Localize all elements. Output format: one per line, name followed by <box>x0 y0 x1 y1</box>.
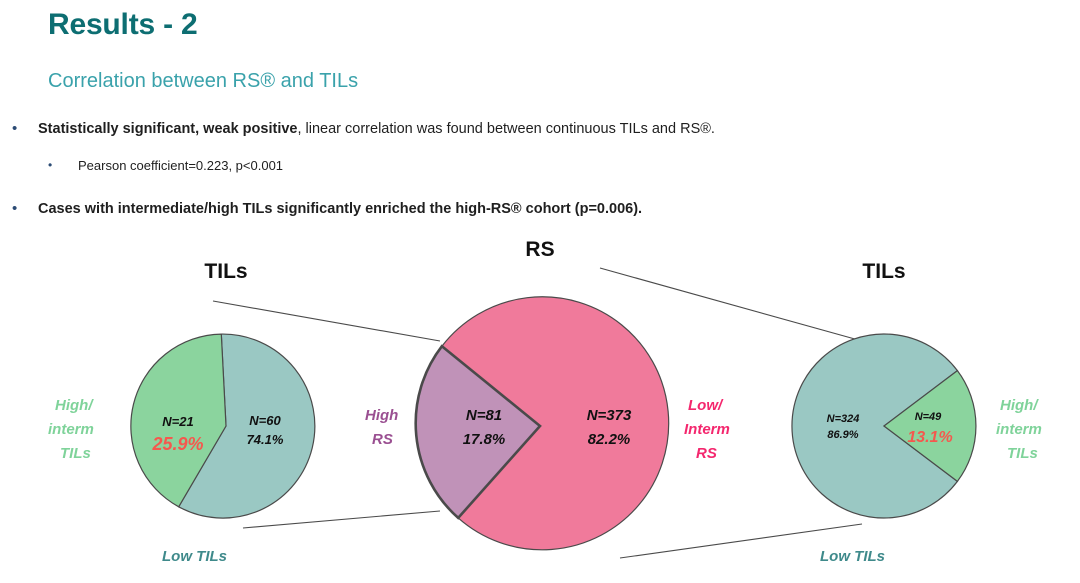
bullet-item-1a: • Pearson coefficient=0.223, p<0.001 <box>48 158 283 174</box>
center-outer-label-low-rs-3: RS <box>696 445 717 462</box>
bullet-marker-icon: • <box>12 120 38 136</box>
left-pie-teal-pct: 74.1% <box>247 432 284 447</box>
bullet-text-1: Statistically significant, weak positive… <box>38 120 715 138</box>
left-pie-teal-n: N=60 <box>249 413 281 428</box>
center-outer-label-low-rs-1: Low/ <box>688 397 724 414</box>
center-pie-purple-n: N=81 <box>466 407 502 424</box>
right-pie-title: TILs <box>862 260 905 283</box>
right-pie-green-pct: 13.1% <box>907 429 952 446</box>
right-pie-teal-pct: 86.9% <box>827 429 858 441</box>
center-pie-pink-pct: 82.2% <box>588 431 631 448</box>
left-outer-label-high-3: TILs <box>60 445 91 462</box>
center-outer-label-high-rs-2: RS <box>372 431 393 448</box>
bullet-text-1a: Pearson coefficient=0.223, p<0.001 <box>78 158 283 174</box>
right-pie-green-n: N=49 <box>915 411 942 423</box>
left-outer-label-high-1: High/ <box>55 397 94 414</box>
bullet-item-1: • Statistically significant, weak positi… <box>12 120 715 138</box>
right-pie-teal-n: N=324 <box>827 413 860 425</box>
left-outer-label-low-tils: Low TILs <box>162 548 227 565</box>
left-pie-green-pct: 25.9% <box>151 434 203 454</box>
left-pie-green-n: N=21 <box>162 414 193 429</box>
pie-chart-figure: TILs N=21 25.9% N=60 74.1% High/ interm … <box>0 228 1080 583</box>
bullet-text-2: Cases with intermediate/high TILs signif… <box>38 200 642 218</box>
left-tils-pie: TILs N=21 25.9% N=60 74.1% High/ interm … <box>48 260 315 565</box>
center-rs-pie: RS N=81 17.8% N=373 82.2% High RS Low/ I… <box>365 238 730 550</box>
right-tils-pie: TILs N=324 86.9% N=49 13.1% High/ interm… <box>792 260 1042 565</box>
bullet-marker-icon: • <box>48 158 78 171</box>
bullet-item-2: • Cases with intermediate/high TILs sign… <box>12 200 642 218</box>
center-outer-label-high-rs-1: High <box>365 407 398 424</box>
page-title: Results - 2 <box>48 8 198 42</box>
bullet-text-1-bold: Statistically significant, weak positive <box>38 121 297 137</box>
right-outer-label-low-tils: Low TILs <box>820 548 885 565</box>
right-outer-label-high-3: TILs <box>1007 445 1038 462</box>
left-pie-title: TILs <box>204 260 247 283</box>
bullet-text-1-rest: , linear correlation was found between c… <box>297 121 714 137</box>
bullet-marker-icon: • <box>12 200 38 216</box>
center-pie-purple-pct: 17.8% <box>463 431 506 448</box>
center-pie-pink-n: N=373 <box>587 407 632 424</box>
right-outer-label-high-2: interm <box>996 421 1042 438</box>
center-outer-label-low-rs-2: Interm <box>684 421 730 438</box>
left-outer-label-high-2: interm <box>48 421 94 438</box>
page-subtitle: Correlation between RS® and TILs <box>48 70 358 93</box>
center-pie-title: RS <box>525 238 554 261</box>
right-outer-label-high-1: High/ <box>1000 397 1039 414</box>
